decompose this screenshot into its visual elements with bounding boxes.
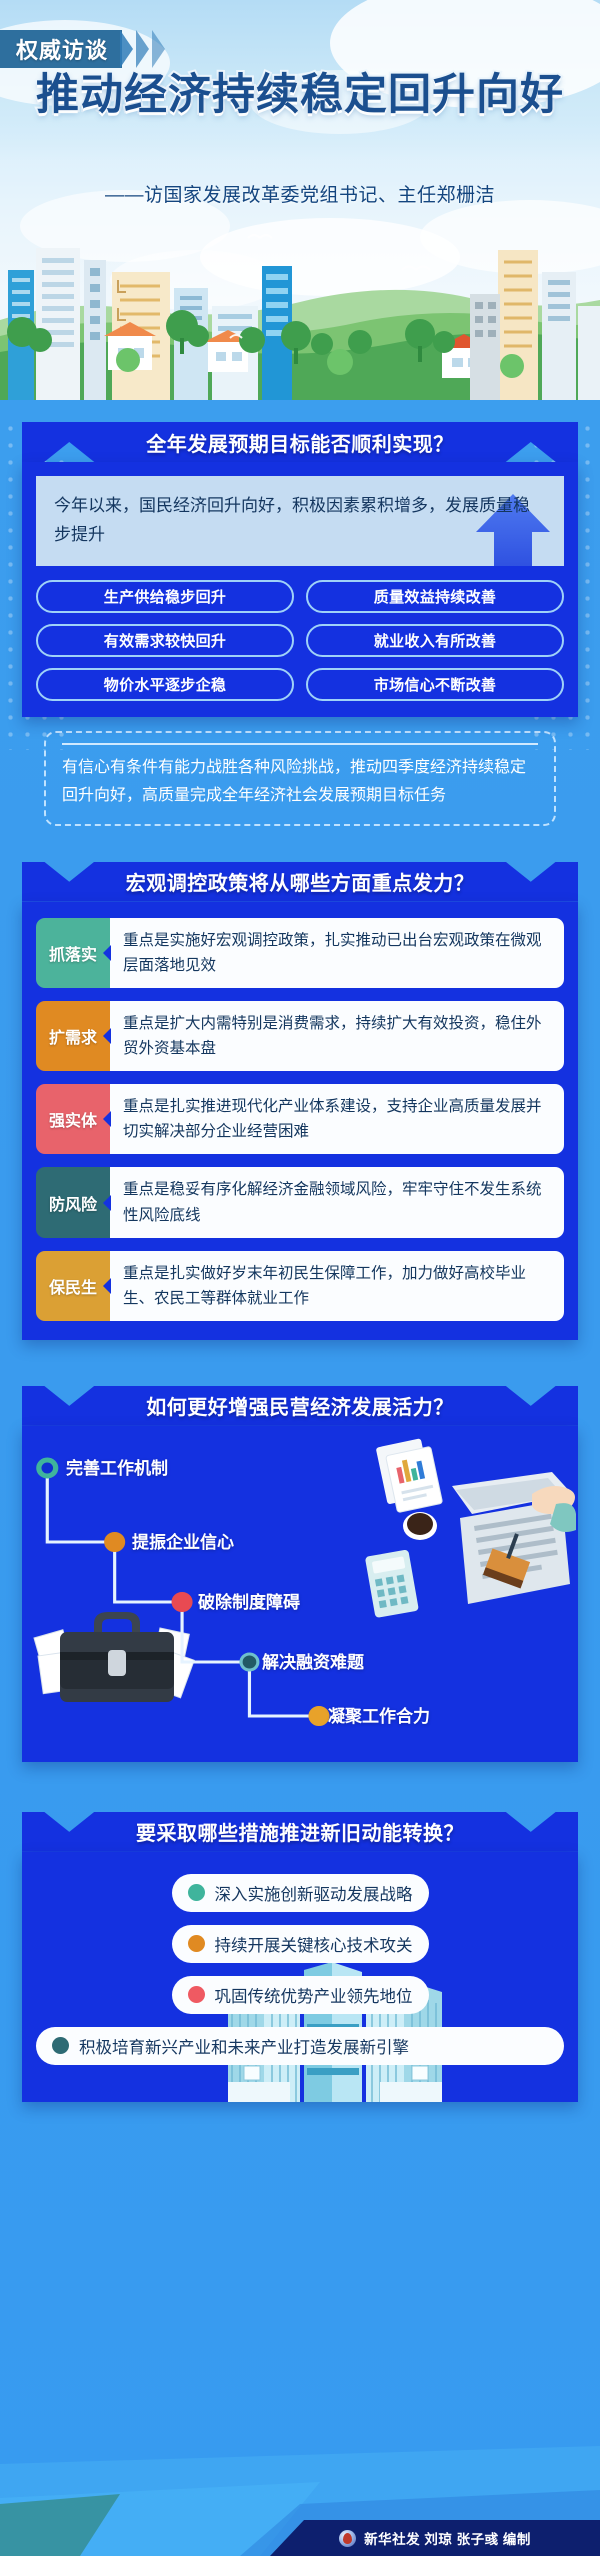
measure-label: 积极培育新兴产业和未来产业打造发展新引擎: [79, 2034, 409, 2058]
step-label: 凝聚工作合力: [328, 1702, 430, 1727]
policy-row[interactable]: 抓落实 重点是实施好宏观调控政策，扎实推动已出台宏观政策在微观层面落地见效: [36, 918, 564, 988]
indicator-pill[interactable]: 就业收入有所改善: [306, 624, 564, 657]
bullet-dot-icon: [188, 1884, 205, 1901]
section-1-lead-box: 今年以来，国民经济回升向好，积极因素累积增多，发展质量稳步提升: [36, 476, 564, 566]
step-label: 提振企业信心: [132, 1528, 234, 1553]
policy-tag: 扩需求: [49, 1024, 97, 1048]
section-3-title: 如何更好增强民营经济发展活力？: [146, 1391, 454, 1420]
footer-credit-text: 新华社发 刘琼 张子彧 编制: [364, 2528, 531, 2548]
policy-tag: 保民生: [49, 1274, 97, 1298]
measure-list: 深入实施创新驱动发展战略 持续开展关键核心技术攻关 巩固传统优势产业领先地位 积…: [32, 1852, 568, 2102]
divider: [62, 743, 538, 745]
measure-capsule[interactable]: 持续开展关键核心技术攻关: [172, 1925, 429, 1963]
section-2-banner: 宏观调控政策将从哪些方面重点发力？: [22, 862, 578, 902]
bullet-dot-icon: [52, 2037, 69, 2054]
section-1-note-box: 有信心有条件有能力战胜各种风险挑战，推动四季度经济持续稳定回升向好，高质量完成全…: [44, 731, 556, 826]
policy-row[interactable]: 防风险 重点是稳妥有序化解经济金融领域风险，牢牢守住不发生系统性风险底线: [36, 1167, 564, 1237]
measure-label: 深入实施创新驱动发展战略: [215, 1881, 413, 1905]
page-title: 推动经济持续稳定回升向好: [0, 60, 600, 122]
section-2-panel: 抓落实 重点是实施好宏观调控政策，扎实推动已出台宏观政策在微观层面落地见效 扩需…: [22, 902, 578, 1340]
step-label: 完善工作机制: [66, 1454, 168, 1479]
badge-label: 权威访谈: [16, 33, 108, 65]
section-1-banner: 全年发展预期目标能否顺利实现？: [22, 422, 578, 462]
staircase-diagram: 完善工作机制 提振企业信心 破除制度障碍 解决融资难题 凝聚工作合力: [22, 1426, 578, 1726]
indicator-pill[interactable]: 市场信心不断改善: [306, 668, 564, 701]
section-1-lead-text: 今年以来，国民经济回升向好，积极因素累积增多，发展质量稳步提升: [54, 492, 546, 550]
policy-text: 重点是稳妥有序化解经济金融领域风险，牢牢守住不发生系统性风险底线: [110, 1167, 564, 1237]
step-label: 解决融资难题: [262, 1648, 364, 1673]
policy-tag: 防风险: [49, 1191, 97, 1215]
section-growth-drivers: 要采取哪些措施推进新旧动能转换？ 深入实施创新驱动发展战略 持续开展关键核心技术…: [22, 1812, 578, 2102]
indicator-pill[interactable]: 质量效益持续改善: [306, 580, 564, 613]
indicator-pill[interactable]: 物价水平逐步企稳: [36, 668, 294, 701]
pill-label: 生产供给稳步回升: [104, 586, 226, 607]
section-3-banner: 如何更好增强民营经济发展活力？: [22, 1386, 578, 1426]
measure-label: 持续开展关键核心技术攻关: [215, 1932, 413, 1956]
policy-row[interactable]: 扩需求 重点是扩大内需特别是消费需求，持续扩大有效投资，稳住外贸外资基本盘: [36, 1001, 564, 1071]
section-annual-targets: 全年发展预期目标能否顺利实现？ 今年以来，国民经济回升向好，积极因素累积增多，发…: [22, 422, 578, 826]
measure-capsule[interactable]: 积极培育新兴产业和未来产业打造发展新引擎: [36, 2027, 564, 2065]
measure-capsule[interactable]: 深入实施创新驱动发展战略: [172, 1874, 429, 1912]
section-4-panel: 深入实施创新驱动发展战略 持续开展关键核心技术攻关 巩固传统优势产业领先地位 积…: [22, 1852, 578, 2102]
section-1-panel: 今年以来，国民经济回升向好，积极因素累积增多，发展质量稳步提升 生产供给稳步回升…: [22, 462, 578, 717]
section-macro-policy: 宏观调控政策将从哪些方面重点发力？ 抓落实 重点是实施好宏观调控政策，扎实推动已…: [22, 862, 578, 1340]
badge-authoritative-interview: 权威访谈: [0, 30, 122, 68]
indicator-pill[interactable]: 有效需求较快回升: [36, 624, 294, 657]
hero-header: 权威访谈 推动经济持续稳定回升向好 ——访国家发展改革委党组书记、主任郑栅洁: [0, 0, 600, 400]
policy-row[interactable]: 保民生 重点是扎实做好岁末年初民生保障工作，加力做好高校毕业生、农民工等群体就业…: [36, 1251, 564, 1321]
policy-tag: 抓落实: [49, 941, 97, 965]
page-footer: 新华社发 刘琼 张子彧 编制: [0, 2446, 600, 2556]
step-label: 破除制度障碍: [198, 1588, 300, 1613]
section-4-banner: 要采取哪些措施推进新旧动能转换？: [22, 1812, 578, 1852]
measure-label: 巩固传统优势产业领先地位: [215, 1983, 413, 2007]
policy-text: 重点是扩大内需特别是消费需求，持续扩大有效投资，稳住外贸外资基本盘: [110, 1001, 564, 1071]
xinhua-logo-icon: [339, 2530, 356, 2547]
section-1-note-text: 有信心有条件有能力战胜各种风险挑战，推动四季度经济持续稳定回升向好，高质量完成全…: [62, 754, 538, 810]
bullet-dot-icon: [188, 1935, 205, 1952]
bullet-dot-icon: [188, 1986, 205, 2003]
pill-label: 有效需求较快回升: [104, 630, 226, 651]
pill-label: 市场信心不断改善: [374, 674, 496, 695]
pill-label: 就业收入有所改善: [374, 630, 496, 651]
policy-tag: 强实体: [49, 1107, 97, 1131]
section-3-panel: 完善工作机制 提振企业信心 破除制度障碍 解决融资难题 凝聚工作合力: [22, 1426, 578, 1762]
indicator-pill[interactable]: 生产供给稳步回升: [36, 580, 294, 613]
section-1-pill-grid: 生产供给稳步回升 质量效益持续改善 有效需求较快回升 就业收入有所改善 物价水平…: [36, 580, 564, 701]
policy-text: 重点是扎实做好岁末年初民生保障工作，加力做好高校毕业生、农民工等群体就业工作: [110, 1251, 564, 1321]
section-private-economy: 如何更好增强民营经济发展活力？: [22, 1386, 578, 1762]
section-2-title: 宏观调控政策将从哪些方面重点发力？: [126, 867, 475, 896]
policy-text: 重点是扎实推进现代化产业体系建设，支持企业高质量发展并切实解决部分企业经营困难: [110, 1084, 564, 1154]
measure-capsule[interactable]: 巩固传统优势产业领先地位: [172, 1976, 429, 2014]
policy-row[interactable]: 强实体 重点是扎实推进现代化产业体系建设，支持企业高质量发展并切实解决部分企业经…: [36, 1084, 564, 1154]
chevron-right-icon: [120, 30, 165, 68]
pill-label: 质量效益持续改善: [374, 586, 496, 607]
policy-text: 重点是实施好宏观调控政策，扎实推动已出台宏观政策在微观层面落地见效: [110, 918, 564, 988]
footer-credit-bar: 新华社发 刘琼 张子彧 编制: [270, 2520, 600, 2556]
pill-label: 物价水平逐步企稳: [104, 674, 226, 695]
city-skyline-illustration: [0, 210, 600, 400]
section-4-title: 要采取哪些措施推进新旧动能转换？: [136, 1817, 464, 1846]
page-subtitle: ——访国家发展改革委党组书记、主任郑栅洁: [0, 180, 600, 207]
section-1-title: 全年发展预期目标能否顺利实现？: [146, 428, 454, 457]
